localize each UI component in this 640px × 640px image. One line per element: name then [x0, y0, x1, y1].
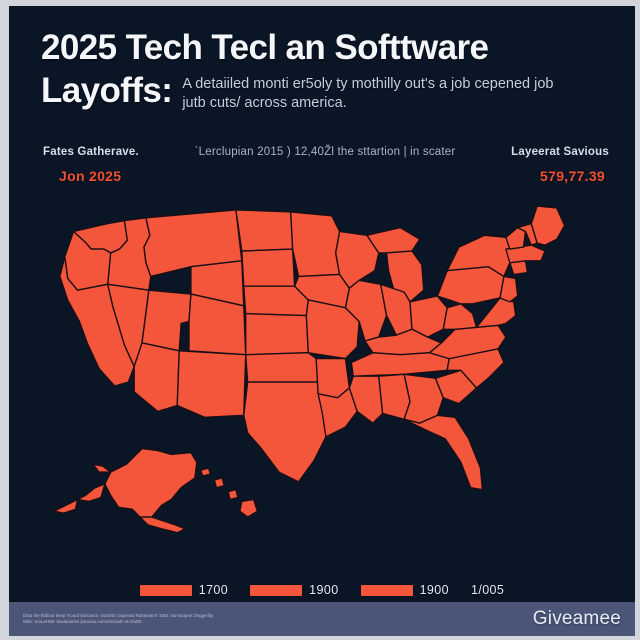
poster-frame: 2025 Tech Tecl an Softtware Layoffs: A d… — [0, 0, 640, 640]
legend-swatch-icon — [361, 585, 413, 596]
state-maine[interactable] — [531, 206, 564, 245]
us-map[interactable] — [9, 202, 635, 570]
brand-logo[interactable]: Giveamee — [533, 608, 621, 630]
legend-swatch-icon — [250, 585, 302, 596]
footer-fine-print: Data the Bldiour keep Yiourd tioncacto, … — [23, 613, 213, 625]
state-south-dakota[interactable] — [242, 249, 295, 286]
inset-alaska[interactable] — [54, 449, 197, 533]
footer-bar: Data the Bldiour keep Yiourd tioncacto, … — [9, 602, 635, 636]
page-title-line2: Layoffs: — [41, 71, 172, 111]
page-subtitle: A detaiiled monti er5oly ty mothilly out… — [182, 75, 560, 113]
state-minnesota[interactable] — [291, 212, 340, 277]
map-container — [9, 202, 635, 570]
stats-left-label: Fates Gatherave. — [43, 146, 139, 158]
state-oklahoma[interactable] — [246, 353, 318, 382]
legend-swatch-icon — [140, 585, 192, 596]
stat-value-total: 579,77.39 — [540, 168, 605, 184]
state-utah[interactable] — [142, 290, 191, 351]
footer-fine-print-line2: Wibc' tooLaHN8 'asatinantes ipnanaa.nomn… — [23, 619, 213, 625]
header: 2025 Tech Tecl an Softtware Layoffs: A d… — [9, 6, 635, 202]
state-kansas[interactable] — [246, 314, 309, 355]
infographic-poster: 2025 Tech Tecl an Softtware Layoffs: A d… — [9, 6, 635, 636]
state-tennessee[interactable] — [351, 353, 449, 376]
legend-note: 1/005 — [471, 583, 504, 597]
state-west-virginia[interactable] — [443, 304, 476, 329]
legend-label: 1700 — [199, 583, 228, 597]
state-vermont[interactable] — [506, 228, 526, 250]
stats-mid-label: `Lerclupian 2015 ) 12,40Žl the sttartion… — [195, 146, 456, 158]
legend-item[interactable]: 1900 — [361, 583, 449, 597]
state-pennsylvania[interactable] — [437, 267, 504, 304]
title-block: 2025 Tech Tecl an Softtware Layoffs: A d… — [41, 28, 616, 113]
state-north-dakota[interactable] — [236, 210, 293, 251]
map-legend: 1700 1900 1900 1/005 — [9, 579, 635, 601]
stats-right-label: Layeerat Savious — [511, 146, 609, 158]
state-new-jersey[interactable] — [500, 276, 518, 301]
stats-label-row: Fates Gatherave. `Lerclupian 2015 ) 12,4… — [43, 146, 609, 158]
inset-hawaii[interactable] — [201, 468, 258, 517]
stats-value-row: Jon 2025 579,77.39 — [59, 168, 605, 184]
legend-label: 1900 — [309, 583, 338, 597]
state-new-mexico[interactable] — [177, 351, 245, 418]
page-title-line1: 2025 Tech Tecl an Softtware — [41, 28, 616, 68]
state-arizona[interactable] — [134, 343, 179, 411]
legend-label: 1900 — [420, 583, 449, 597]
state-florida[interactable] — [404, 415, 482, 489]
legend-item[interactable]: 1700 — [140, 583, 228, 597]
stat-value-period: Jon 2025 — [59, 168, 121, 184]
legend-item[interactable]: 1900 — [250, 583, 338, 597]
